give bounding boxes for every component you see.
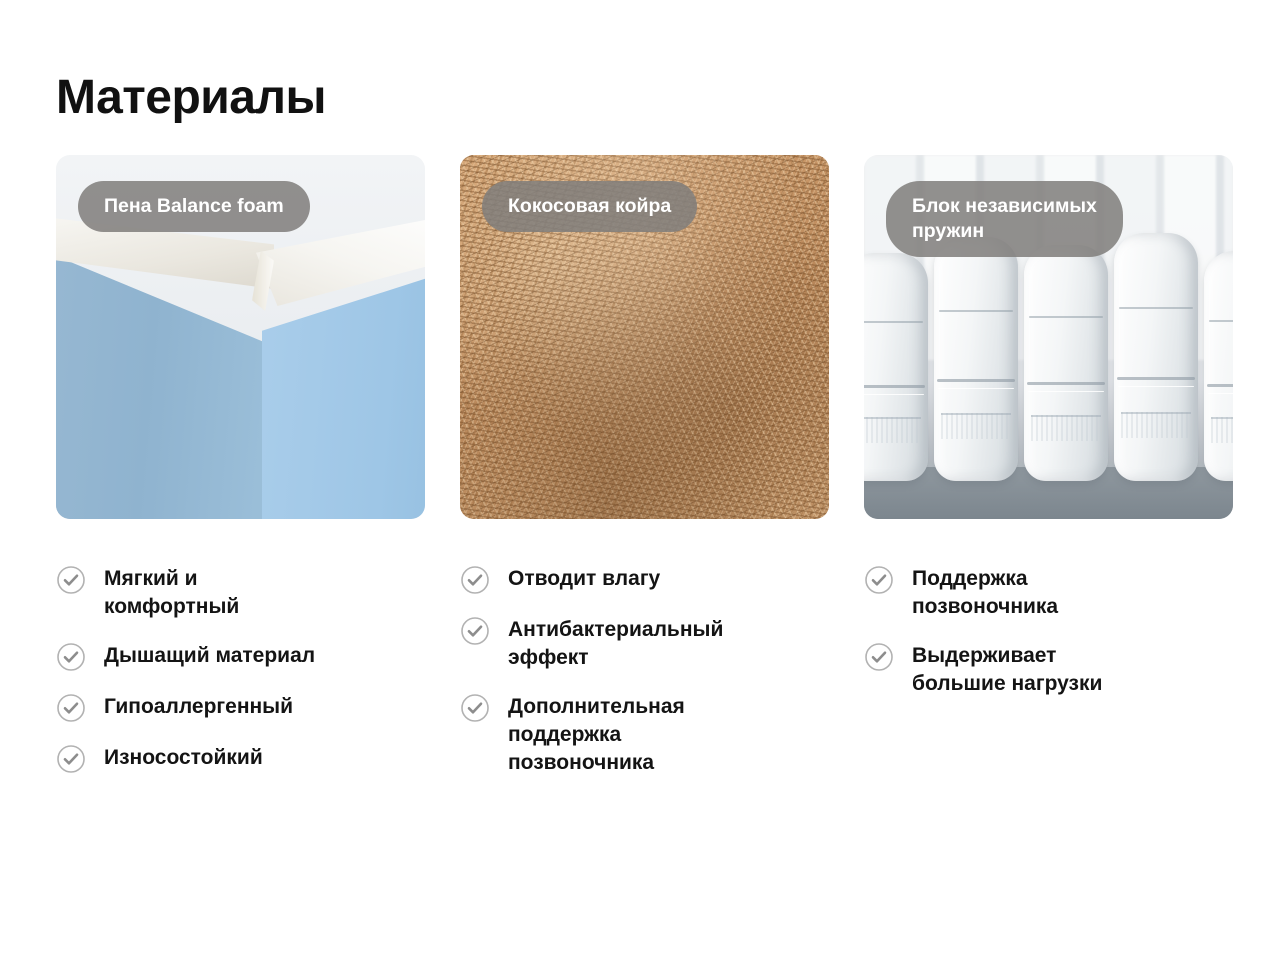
spring-unit <box>1024 245 1108 481</box>
feature-item: Поддержка позвоночника <box>864 564 1233 621</box>
spring-seam <box>941 413 1012 439</box>
foam-left-face <box>56 251 276 519</box>
check-circle-icon <box>56 744 86 774</box>
feature-label: Поддержка позвоночника <box>912 564 1058 621</box>
material-card-coir[interactable]: Кокосовая койра <box>460 155 829 519</box>
feature-item: Антибактериальный эффект <box>460 615 829 672</box>
check-circle-icon <box>460 616 490 646</box>
feature-label: Выдерживает большие нагрузки <box>912 641 1102 698</box>
feature-column-foam: Мягкий и комфортный Дышащий материал Гип… <box>56 564 425 797</box>
card-badge-foam: Пена Balance foam <box>78 181 310 232</box>
feature-item: Износостойкий <box>56 743 425 774</box>
card-badge-coir: Кокосовая койра <box>482 181 697 232</box>
feature-column-springs: Поддержка позвоночника Выдерживает больш… <box>864 564 1233 797</box>
check-circle-icon <box>460 693 490 723</box>
feature-item: Дополнительная поддержка позвоночника <box>460 692 829 777</box>
spring-seam <box>864 417 921 443</box>
spring-unit <box>864 253 928 481</box>
foam-right-face <box>262 267 425 519</box>
feature-item: Выдерживает большие нагрузки <box>864 641 1233 698</box>
check-circle-icon <box>864 565 894 595</box>
spring-seam <box>1121 412 1192 438</box>
spring-front-row <box>864 231 1233 481</box>
materials-slide: Материалы Пена Balance foam Кокосовая ко… <box>0 0 1280 960</box>
check-circle-icon <box>56 693 86 723</box>
spring-unit <box>1204 251 1233 481</box>
spring-unit <box>934 237 1018 481</box>
card-badge-springs: Блок независимых пружин <box>886 181 1123 257</box>
feature-label: Мягкий и комфортный <box>104 564 239 621</box>
spring-seam <box>1211 417 1233 443</box>
feature-lists: Мягкий и комфортный Дышащий материал Гип… <box>56 564 1228 797</box>
spring-unit <box>1114 233 1198 481</box>
check-circle-icon <box>56 565 86 595</box>
check-circle-icon <box>56 642 86 672</box>
page-title: Материалы <box>56 73 326 123</box>
spring-seam <box>1031 415 1102 441</box>
feature-label: Антибактериальный эффект <box>508 615 723 672</box>
material-card-foam[interactable]: Пена Balance foam <box>56 155 425 519</box>
feature-column-coir: Отводит влагу Антибактериальный эффект Д… <box>460 564 829 797</box>
material-card-springs[interactable]: Блок независимых пружин <box>864 155 1233 519</box>
feature-label: Износостойкий <box>104 743 263 772</box>
feature-item: Отводит влагу <box>460 564 829 595</box>
feature-label: Отводит влагу <box>508 564 660 593</box>
feature-label: Гипоаллергенный <box>104 692 293 721</box>
feature-label: Дышащий материал <box>104 641 315 670</box>
check-circle-icon <box>460 565 490 595</box>
material-cards: Пена Balance foam Кокосовая койра <box>56 155 1228 519</box>
feature-item: Мягкий и комфортный <box>56 564 425 621</box>
feature-item: Дышащий материал <box>56 641 425 672</box>
feature-item: Гипоаллергенный <box>56 692 425 723</box>
feature-label: Дополнительная поддержка позвоночника <box>508 692 685 777</box>
check-circle-icon <box>864 642 894 672</box>
